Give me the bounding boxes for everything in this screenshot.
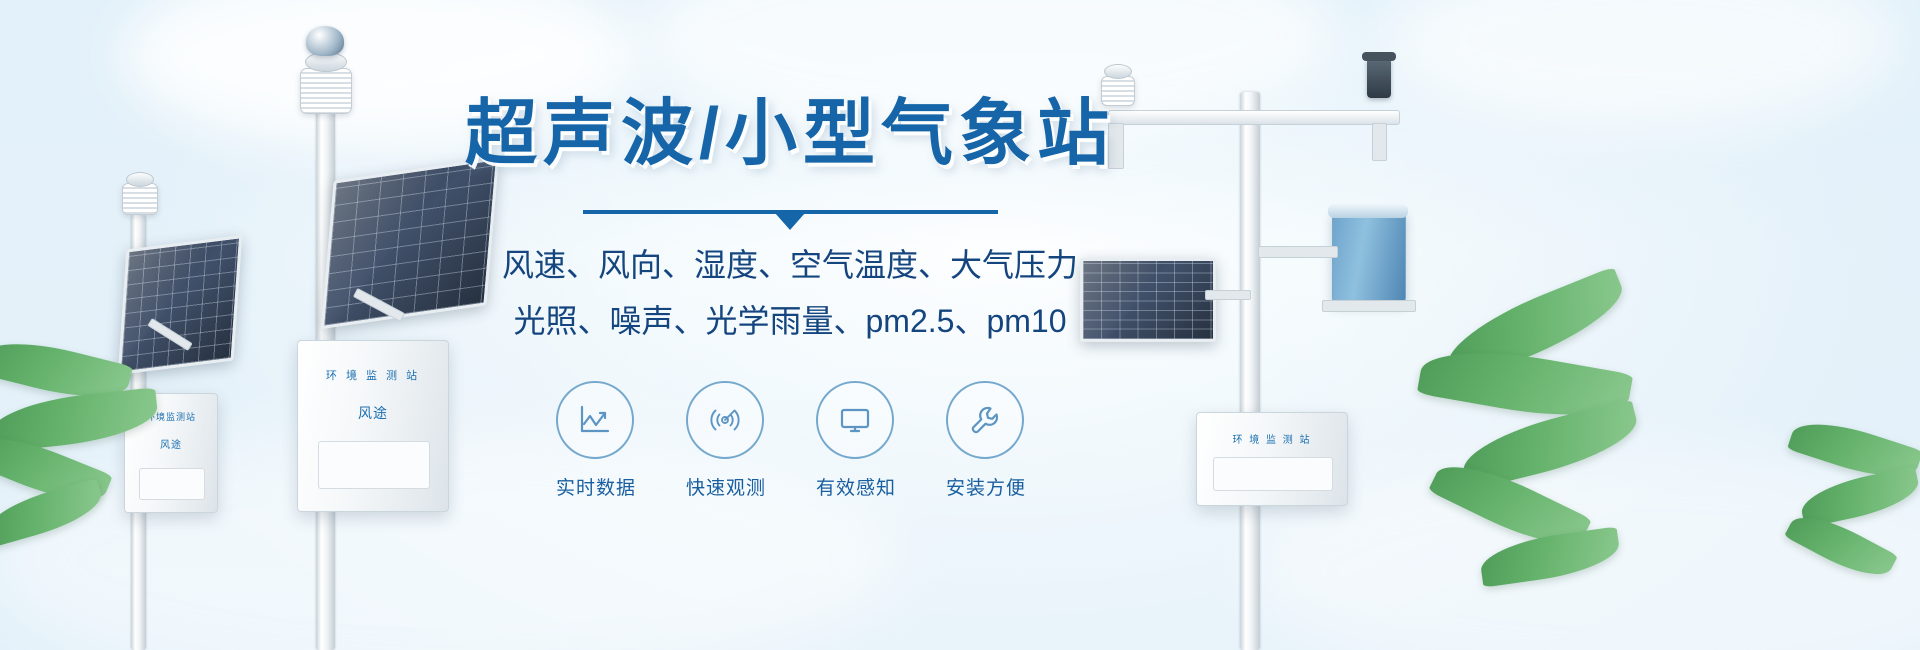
feature-icon-circle (686, 381, 764, 459)
crossarm-drop-right (1372, 123, 1387, 161)
page-title: 超声波/小型气象站 (430, 96, 1150, 174)
monitor-icon (835, 400, 875, 440)
feature-label: 有效感知 (816, 473, 894, 500)
anemometer-sensor (1367, 58, 1391, 98)
feature-icon-circle (816, 381, 894, 459)
radar-signal-icon (705, 400, 745, 440)
feature-list: 实时数据 快速观测 (430, 381, 1150, 500)
enclosure-cabinet: 环 境 监 测 站 (1196, 412, 1348, 506)
crossarm (1108, 110, 1400, 125)
feature-item-realtime-data[interactable]: 实时数据 (556, 381, 634, 500)
radiation-shield (300, 68, 352, 114)
cabinet-label: 环 境 监 测 站 (326, 367, 420, 383)
cabinet-vent (1213, 457, 1333, 491)
chevron-down-icon (775, 213, 805, 230)
subtitle-line-2: 光照、噪声、光学雨量、pm2.5、pm10 (430, 296, 1150, 347)
feature-icon-circle (556, 381, 634, 459)
hero-banner: 环境监测站 风途 环 境 监 测 站 风途 (0, 0, 1920, 650)
rain-gauge-rim (1328, 204, 1408, 218)
enclosure-cabinet: 环 境 监 测 站 风途 (297, 340, 449, 512)
feature-item-easy-install[interactable]: 安装方便 (946, 381, 1024, 500)
mast-pole (1240, 92, 1260, 650)
cabinet-label: 环 境 监 测 站 (1232, 431, 1311, 446)
rain-gauge (1332, 210, 1406, 304)
sensor-cap (126, 172, 154, 187)
hero-content: 超声波/小型气象站 风速、风向、湿度、空气温度、大气压力 光照、噪声、光学雨量、… (430, 96, 1150, 500)
leaf-decor-left (0, 330, 210, 560)
cloud-decor (1380, 0, 1900, 130)
leaf-decor-right (1420, 300, 1720, 630)
feature-label: 快速观测 (686, 473, 764, 500)
wrench-icon (965, 400, 1005, 440)
feature-label: 实时数据 (556, 473, 634, 500)
leaf-decor-far-right (1790, 430, 1920, 630)
feature-label: 安装方便 (946, 473, 1024, 500)
rain-gauge-shelf (1322, 300, 1416, 312)
sensor-cap (1104, 64, 1132, 79)
subtitle-line-1: 风速、风向、湿度、空气温度、大气压力 (430, 240, 1150, 291)
cabinet-vent (318, 441, 430, 489)
line-chart-icon (575, 400, 615, 440)
radiation-shield (122, 183, 158, 215)
feature-icon-circle (946, 381, 1024, 459)
title-divider (583, 210, 998, 214)
cabinet-brand: 风途 (358, 403, 388, 423)
anemometer-vane (1362, 52, 1396, 61)
rain-gauge-arm (1258, 246, 1338, 258)
ultrasonic-wind-sensor (306, 26, 344, 56)
feature-item-effective-sensing[interactable]: 有效感知 (816, 381, 894, 500)
feature-item-fast-observation[interactable]: 快速观测 (686, 381, 764, 500)
panel-bracket (1205, 290, 1251, 300)
